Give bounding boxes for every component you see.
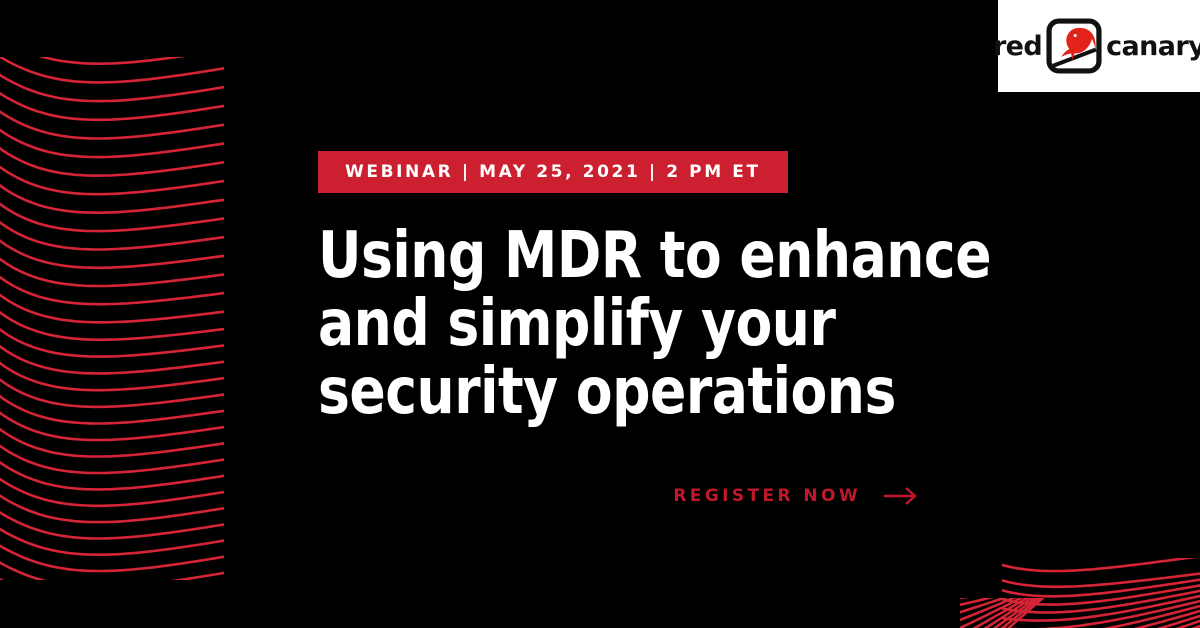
brand-logo-panel[interactable]: red canary (998, 0, 1200, 92)
register-now-button[interactable]: REGISTER NOW (318, 485, 919, 507)
headline-line-3: security operations (318, 358, 1025, 426)
canary-bird-icon (1045, 17, 1103, 75)
wave-line-art-bottom-right-lower (960, 598, 1200, 628)
logo-lockup: red canary (993, 17, 1200, 75)
page-title: Using MDR to enhance and simplify your s… (318, 222, 1078, 426)
arrow-right-icon[interactable] (883, 485, 919, 507)
headline-line-2: and simplify your (318, 290, 1025, 358)
logo-word-red: red (993, 33, 1042, 60)
wave-line-art-bottom-right-upper (1002, 558, 1200, 628)
webinar-date-banner: WEBINAR | MAY 25, 2021 | 2 PM ET (318, 151, 788, 193)
webinar-promo-banner: red canary WEBINAR | MAY 25, 2021 | 2 PM… (0, 0, 1200, 628)
wave-line-art-left (0, 57, 224, 580)
webinar-date-text: WEBINAR | MAY 25, 2021 | 2 PM ET (345, 164, 761, 181)
logo-word-canary: canary (1106, 33, 1200, 60)
register-now-label: REGISTER NOW (673, 488, 861, 505)
headline-line-1: Using MDR to enhance (318, 222, 1025, 290)
